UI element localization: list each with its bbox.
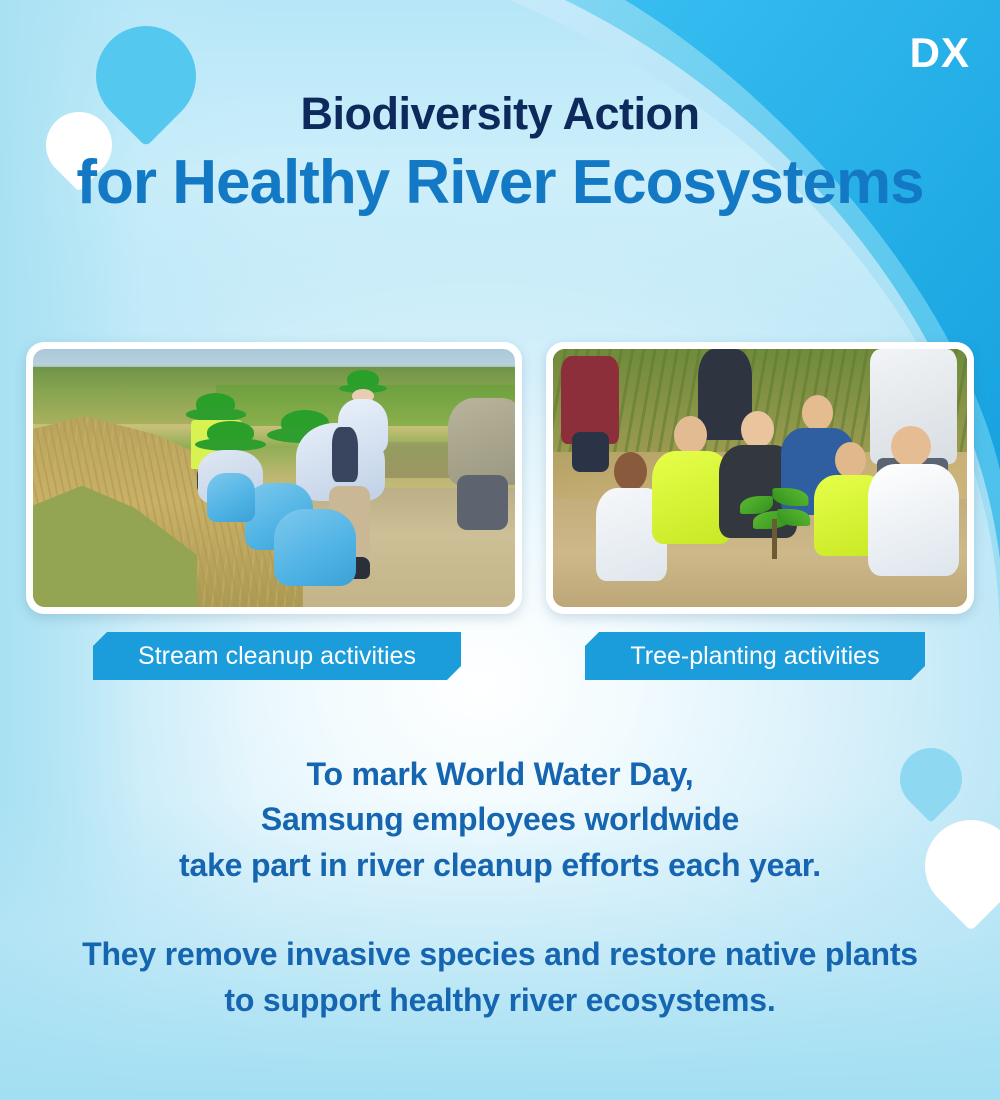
caption-text-stream-cleanup: Stream cleanup activities bbox=[138, 642, 416, 671]
infographic-poster: DX Biodiversity Action for Healthy River… bbox=[0, 0, 1000, 1100]
caption-badge-stream-cleanup: Stream cleanup activities bbox=[93, 632, 461, 680]
photo-stream-cleanup bbox=[33, 349, 515, 607]
paragraph-world-water-day: To mark World Water Day, Samsung employe… bbox=[0, 752, 1000, 888]
paragraph-invasive-species: They remove invasive species and restore… bbox=[0, 932, 1000, 1023]
caption-badge-tree-planting: Tree-planting activities bbox=[585, 632, 925, 680]
dx-logo: DX bbox=[910, 32, 970, 74]
photo-card-tree-planting bbox=[546, 342, 974, 614]
photo-tree-planting bbox=[553, 349, 967, 607]
headline-line-2b: Ecosystems bbox=[572, 148, 924, 217]
paragraph1-line3: take part in river cleanup efforts each … bbox=[0, 843, 1000, 888]
paragraph1-line1: To mark World Water Day, bbox=[0, 752, 1000, 797]
caption-text-tree-planting: Tree-planting activities bbox=[630, 642, 879, 671]
body-copy: To mark World Water Day, Samsung employe… bbox=[0, 752, 1000, 1023]
photo-gallery bbox=[0, 342, 1000, 614]
paragraph2-line2: to support healthy river ecosystems. bbox=[0, 978, 1000, 1023]
photo-card-stream-cleanup bbox=[26, 342, 522, 614]
headline-line-2: for Healthy River Ecosystems bbox=[0, 148, 1000, 217]
paragraph1-line2: Samsung employees worldwide bbox=[0, 797, 1000, 842]
headline-line-1: Biodiversity Action bbox=[0, 88, 1000, 140]
page-title: Biodiversity Action for Healthy River Ec… bbox=[0, 88, 1000, 217]
paragraph2-line1: They remove invasive species and restore… bbox=[0, 932, 1000, 977]
headline-line-2a: for Healthy River bbox=[76, 148, 555, 217]
